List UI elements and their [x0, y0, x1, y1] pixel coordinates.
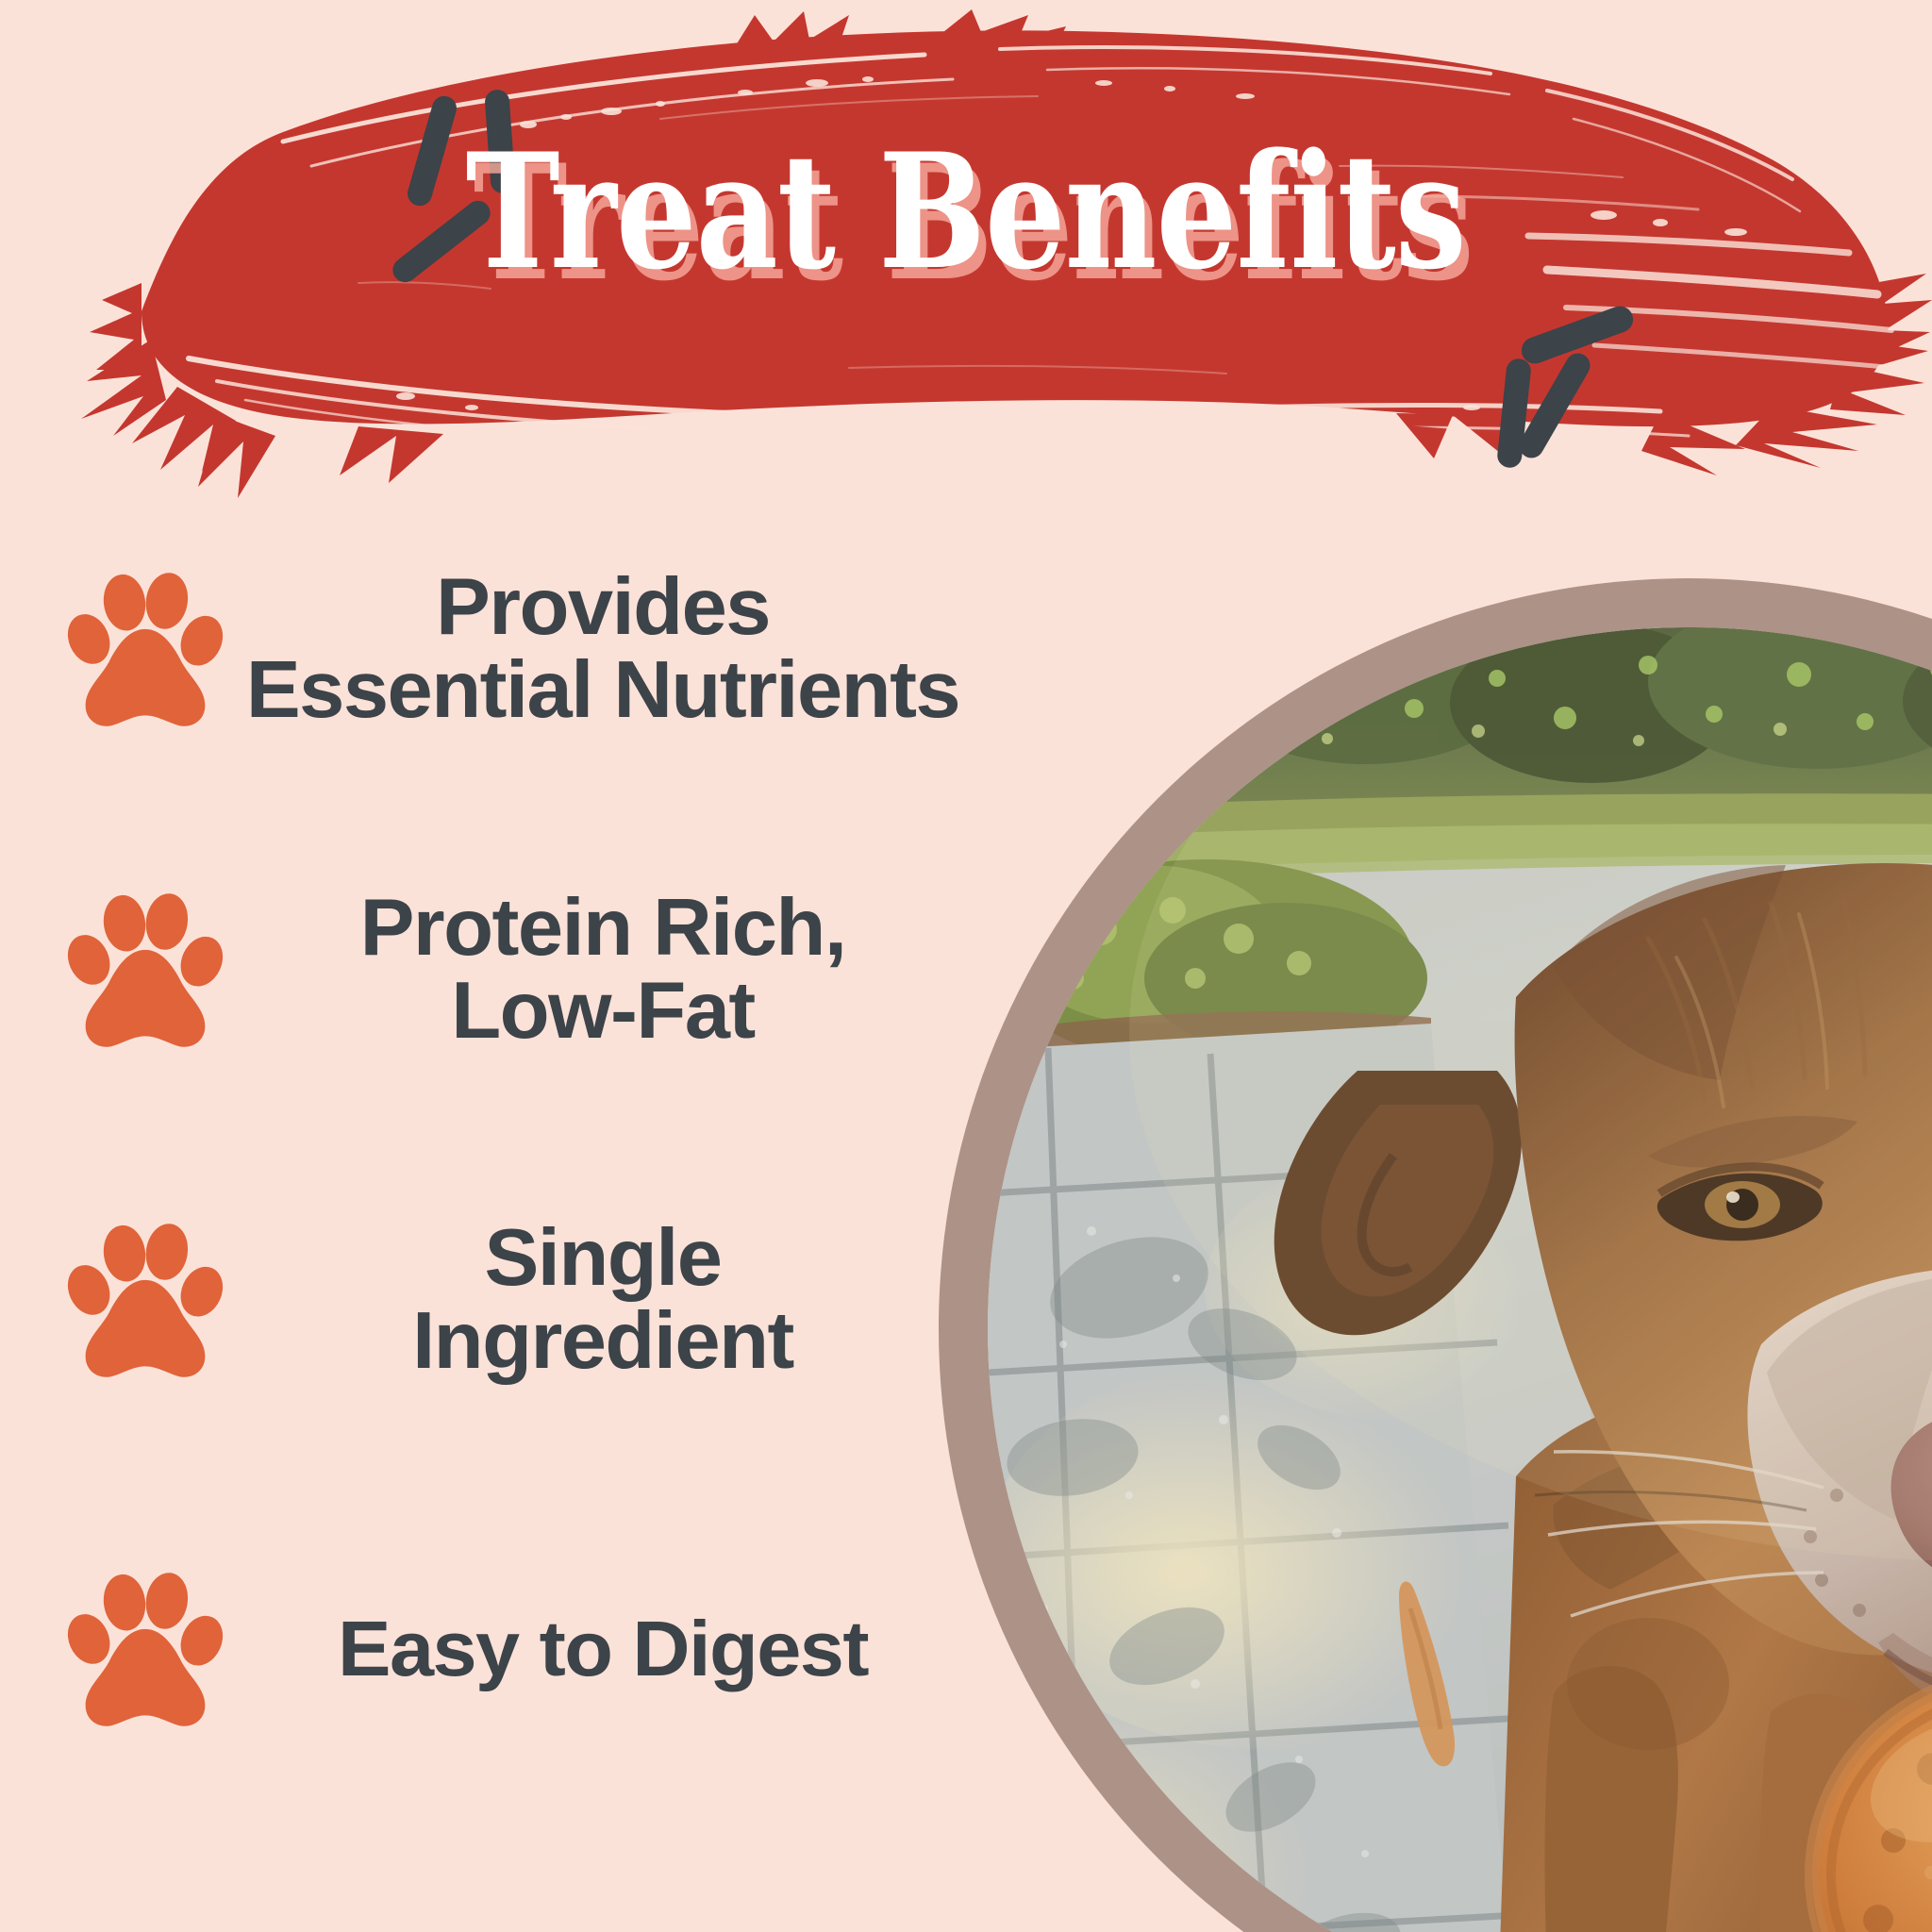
paw-print-icon	[62, 566, 228, 732]
benefit-item-label: Protein Rich, Low-Fat	[246, 887, 960, 1052]
poster-canvas: Treat Benefits Provides Essential Nutrie…	[0, 0, 1932, 1932]
dog-photo	[988, 627, 1932, 1932]
paw-print-icon	[62, 1566, 228, 1732]
benefit-item-protein-rich-low-fat[interactable]: Protein Rich, Low-Fat	[0, 887, 953, 1053]
header-banner: Treat Benefits	[0, 0, 1932, 528]
benefit-item-single-ingredient[interactable]: Single Ingredient	[0, 1217, 953, 1383]
paw-print-icon	[62, 1217, 228, 1383]
paw-print-icon	[62, 887, 228, 1053]
benefit-item-label: Easy to Digest	[246, 1608, 960, 1689]
benefit-item-easy-to-digest[interactable]: Easy to Digest	[0, 1566, 953, 1732]
brush-stroke-body	[81, 9, 1932, 498]
benefit-item-provides-essential-nutrients[interactable]: Provides Essential Nutrients	[0, 566, 953, 732]
benefit-item-label: Provides Essential Nutrients	[246, 566, 960, 731]
dog-photo-frame	[939, 578, 1932, 1932]
benefit-item-label: Single Ingredient	[246, 1217, 960, 1382]
